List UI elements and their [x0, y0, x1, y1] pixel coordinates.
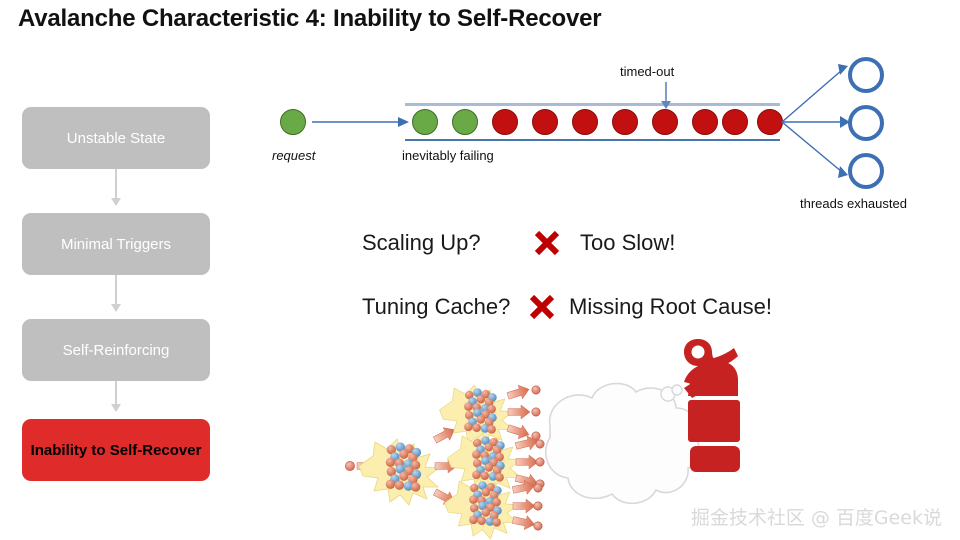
flow-connector-arrow-2 — [115, 275, 117, 311]
queue-slot-6 — [612, 109, 638, 135]
queue-slot-2 — [452, 109, 478, 135]
queue-slot-3 — [492, 109, 518, 135]
queue-slot-1 — [412, 109, 438, 135]
timeout-label: timed-out — [620, 64, 674, 79]
flow-step-label: Self-Reinforcing — [63, 342, 170, 359]
x-mark-icon — [532, 228, 562, 258]
queue-slot-7 — [652, 109, 678, 135]
flow-step-self-reinforcing[interactable]: Self-Reinforcing — [22, 319, 210, 381]
thread-circle-1 — [848, 57, 884, 93]
remediation-row-2: Tuning Cache? Missing Root Cause! — [362, 292, 772, 322]
remediation-attempt-label: Scaling Up? — [362, 230, 532, 256]
request-label: request — [272, 148, 315, 163]
thread-circle-3 — [848, 153, 884, 189]
x-mark-icon — [527, 292, 557, 322]
threads-exhausted-label: threads exhausted — [800, 196, 907, 211]
thread-circle-2 — [848, 105, 884, 141]
request-arrow-icon — [312, 112, 412, 132]
slide-canvas: Avalanche Characteristic 4: Inability to… — [0, 0, 960, 540]
watermark-text: 掘金技术社区 @ 百度Geek说 — [691, 503, 942, 530]
incoming-request-dot — [280, 109, 306, 135]
timeout-arrow-icon — [658, 82, 674, 110]
remediation-verdict-label: Missing Root Cause! — [569, 294, 772, 320]
queue-rail-top — [405, 103, 780, 106]
flow-step-label: Minimal Triggers — [61, 236, 171, 253]
foam-cloud-icon — [546, 383, 700, 503]
remediation-verdict-label: Too Slow! — [580, 230, 675, 256]
queue-slot-5 — [572, 109, 598, 135]
queue-diagram: request inevitably failing timed-out — [0, 0, 960, 230]
remediation-attempt-label: Tuning Cache? — [362, 294, 527, 320]
queue-slot-4 — [532, 109, 558, 135]
flow-step-label: Inability to Self-Recover — [31, 442, 202, 459]
flow-connector-arrow-3 — [115, 381, 117, 411]
queue-slot-9 — [722, 109, 748, 135]
chain-reaction-illustration — [340, 348, 740, 540]
queue-rail-bottom — [405, 139, 780, 141]
fire-extinguisher-icon — [684, 339, 740, 472]
queue-label: inevitably failing — [402, 148, 494, 163]
queue-slot-8 — [692, 109, 718, 135]
flow-step-inability-to-self-recover[interactable]: Inability to Self-Recover — [22, 419, 210, 481]
remediation-row-1: Scaling Up? Too Slow! — [362, 228, 675, 258]
